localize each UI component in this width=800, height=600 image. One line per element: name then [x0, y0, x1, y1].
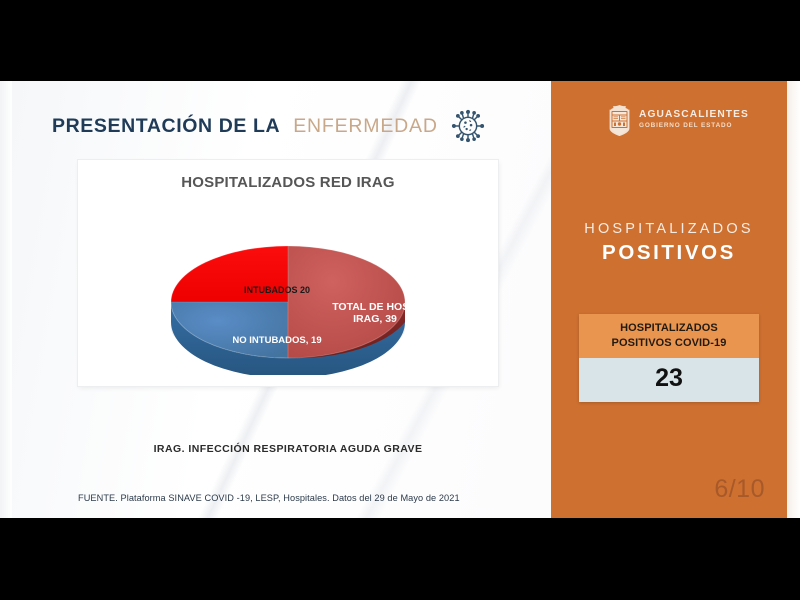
- stat-card-header-line1: HOSPITALIZADOS: [583, 321, 755, 336]
- page-title-strong: PRESENTACIÓN DE LA: [52, 115, 280, 138]
- logo-text-block: AGUASCALIENTES GOBIERNO DEL ESTADO: [639, 110, 749, 129]
- chart-card: HOSPITALIZADOS RED IRAG: [78, 160, 498, 386]
- letterbox-bottom: [0, 518, 800, 600]
- panel-heading-line2: POSITIVOS: [551, 241, 787, 265]
- logo-state-name: AGUASCALIENTES: [639, 110, 749, 120]
- slide-header: PRESENTACIÓN DE LA ENFERMEDAD: [52, 109, 485, 143]
- sidebar-panel: AGUASCALIENTES GOBIERNO DEL ESTADO HOSPI…: [551, 81, 787, 518]
- chart-source-caption: FUENTE. Plataforma SINAVE COVID -19, LES…: [78, 493, 538, 503]
- panel-heading-line1: HOSPITALIZADOS: [551, 221, 787, 237]
- page-title-light: ENFERMEDAD: [293, 115, 438, 138]
- stat-card-header-line2: POSITIVOS COVID-19: [583, 336, 755, 351]
- state-crest-icon: [607, 104, 632, 136]
- slide-left-edge: [0, 81, 12, 518]
- presentation-slide: PRESENTACIÓN DE LA ENFERMEDAD: [0, 81, 800, 518]
- stat-card-hospitalizados-positivos: HOSPITALIZADOS POSITIVOS COVID-19 23: [579, 314, 759, 402]
- pie-chart: TOTAL DE HOSP. IRAG, 39 INTUBADOS 20 NO …: [108, 210, 468, 375]
- virus-icon: [451, 109, 485, 143]
- stat-card-header: HOSPITALIZADOS POSITIVOS COVID-19: [579, 314, 759, 358]
- stat-card-value: 23: [579, 358, 759, 402]
- letterbox-top: [0, 0, 800, 81]
- government-logo: AGUASCALIENTES GOBIERNO DEL ESTADO: [607, 104, 749, 136]
- screenshot-stage: PRESENTACIÓN DE LA ENFERMEDAD: [0, 0, 800, 600]
- slide-right-edge: [787, 81, 800, 518]
- chart-legend-caption: IRAG. INFECCIÓN RESPIRATORIA AGUDA GRAVE: [78, 443, 498, 455]
- panel-heading: HOSPITALIZADOS POSITIVOS: [551, 221, 787, 265]
- chart-title: HOSPITALIZADOS RED IRAG: [78, 174, 498, 191]
- page-number: 6/10: [714, 475, 765, 504]
- logo-subtitle: GOBIERNO DEL ESTADO: [639, 123, 749, 129]
